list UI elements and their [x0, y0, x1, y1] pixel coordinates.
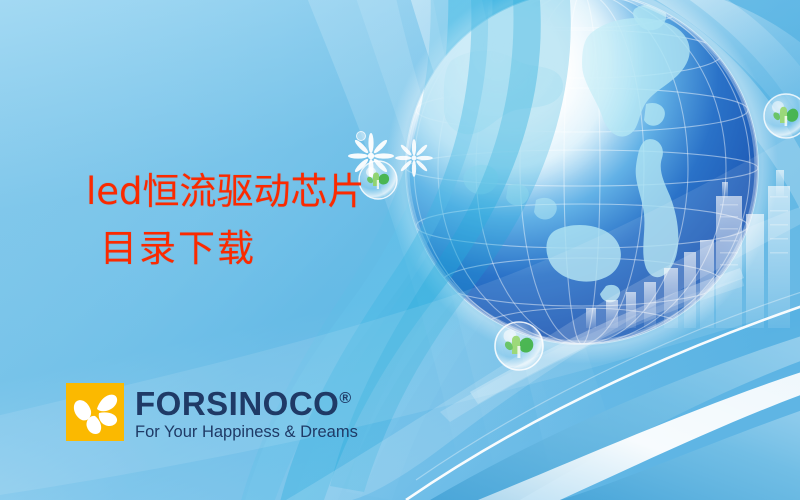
- pinwheel-petals-icon: [66, 383, 124, 441]
- registered-trademark-icon: ®: [339, 390, 351, 407]
- headline-line-2: 目录下载: [86, 220, 365, 277]
- bubble-with-leaf-right: [764, 94, 800, 138]
- company-logo: FORSINOCO® For Your Happiness & Dreams: [66, 382, 358, 442]
- bubble-with-leaf-center: [495, 322, 543, 370]
- headline-line-1: led恒流驱动芯片: [86, 170, 365, 213]
- logo-mark: [66, 383, 124, 441]
- bubble-with-leaf-left: [359, 161, 397, 199]
- logo-company-name: FORSINOCO®: [135, 382, 358, 420]
- slide-canvas: led恒流驱动芯片 目录下载 FORSINOCO®: [0, 0, 800, 500]
- headline-text: led恒流驱动芯片 目录下载: [86, 163, 365, 277]
- logo-company-name-text: FORSINOCO: [135, 385, 339, 422]
- logo-tagline: For Your Happiness & Dreams: [135, 423, 358, 442]
- logo-text-block: FORSINOCO® For Your Happiness & Dreams: [135, 382, 358, 442]
